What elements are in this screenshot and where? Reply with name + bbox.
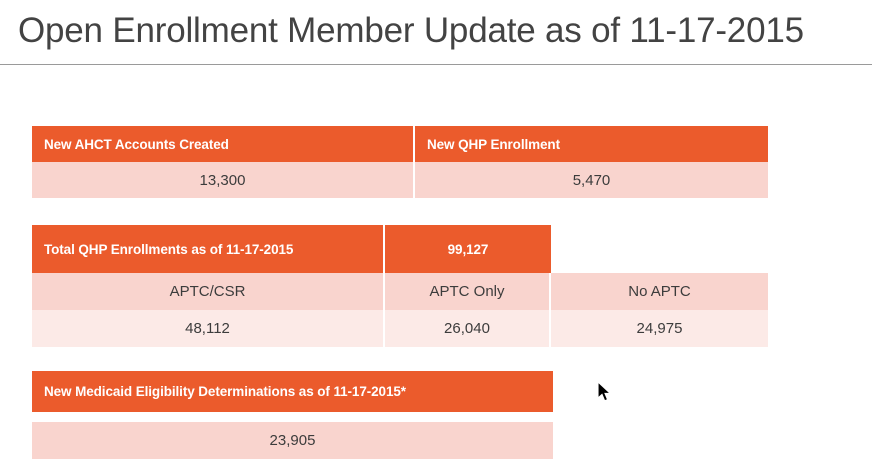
table-row: New AHCT Accounts Created New QHP Enroll… [32,126,768,162]
header-new-qhp-enrollment: New QHP Enrollment [415,126,768,162]
subheader-aptc-only: APTC Only [385,273,551,310]
value-aptc-only: 26,040 [385,310,551,347]
value-total-qhp-enrollments: 99,127 [385,225,551,273]
empty-cell [551,225,768,273]
table-row: 23,905 [32,422,553,459]
table-new-accounts: New AHCT Accounts Created New QHP Enroll… [32,126,768,198]
value-no-aptc: 24,975 [551,310,768,347]
value-new-medicaid-eligibility-determinations: 23,905 [32,422,553,459]
header-new-medicaid-eligibility-determinations: New Medicaid Eligibility Determinations … [32,371,553,412]
value-new-qhp-enrollment: 5,470 [415,162,768,198]
table-spacer [32,412,553,422]
table-total-qhp-enrollments: Total QHP Enrollments as of 11-17-2015 9… [32,225,768,347]
table-row: New Medicaid Eligibility Determinations … [32,371,553,412]
subheader-aptc-csr: APTC/CSR [32,273,385,310]
value-new-ahct-accounts-created: 13,300 [32,162,415,198]
title-divider [0,64,872,65]
arrow-pointer-icon [597,381,613,403]
table-row: Total QHP Enrollments as of 11-17-2015 9… [32,225,768,273]
table-medicaid-determinations: New Medicaid Eligibility Determinations … [32,371,553,459]
page-title: Open Enrollment Member Update as of 11-1… [18,5,804,57]
value-aptc-csr: 48,112 [32,310,385,347]
table-row: 48,112 26,040 24,975 [32,310,768,347]
header-new-ahct-accounts-created: New AHCT Accounts Created [32,126,415,162]
header-total-qhp-enrollments: Total QHP Enrollments as of 11-17-2015 [32,225,385,273]
table-row: APTC/CSR APTC Only No APTC [32,273,768,310]
title-bar: Open Enrollment Member Update as of 11-1… [0,0,872,65]
table-spacer-row [32,412,553,422]
table-row: 13,300 5,470 [32,162,768,198]
subheader-no-aptc: No APTC [551,273,768,310]
